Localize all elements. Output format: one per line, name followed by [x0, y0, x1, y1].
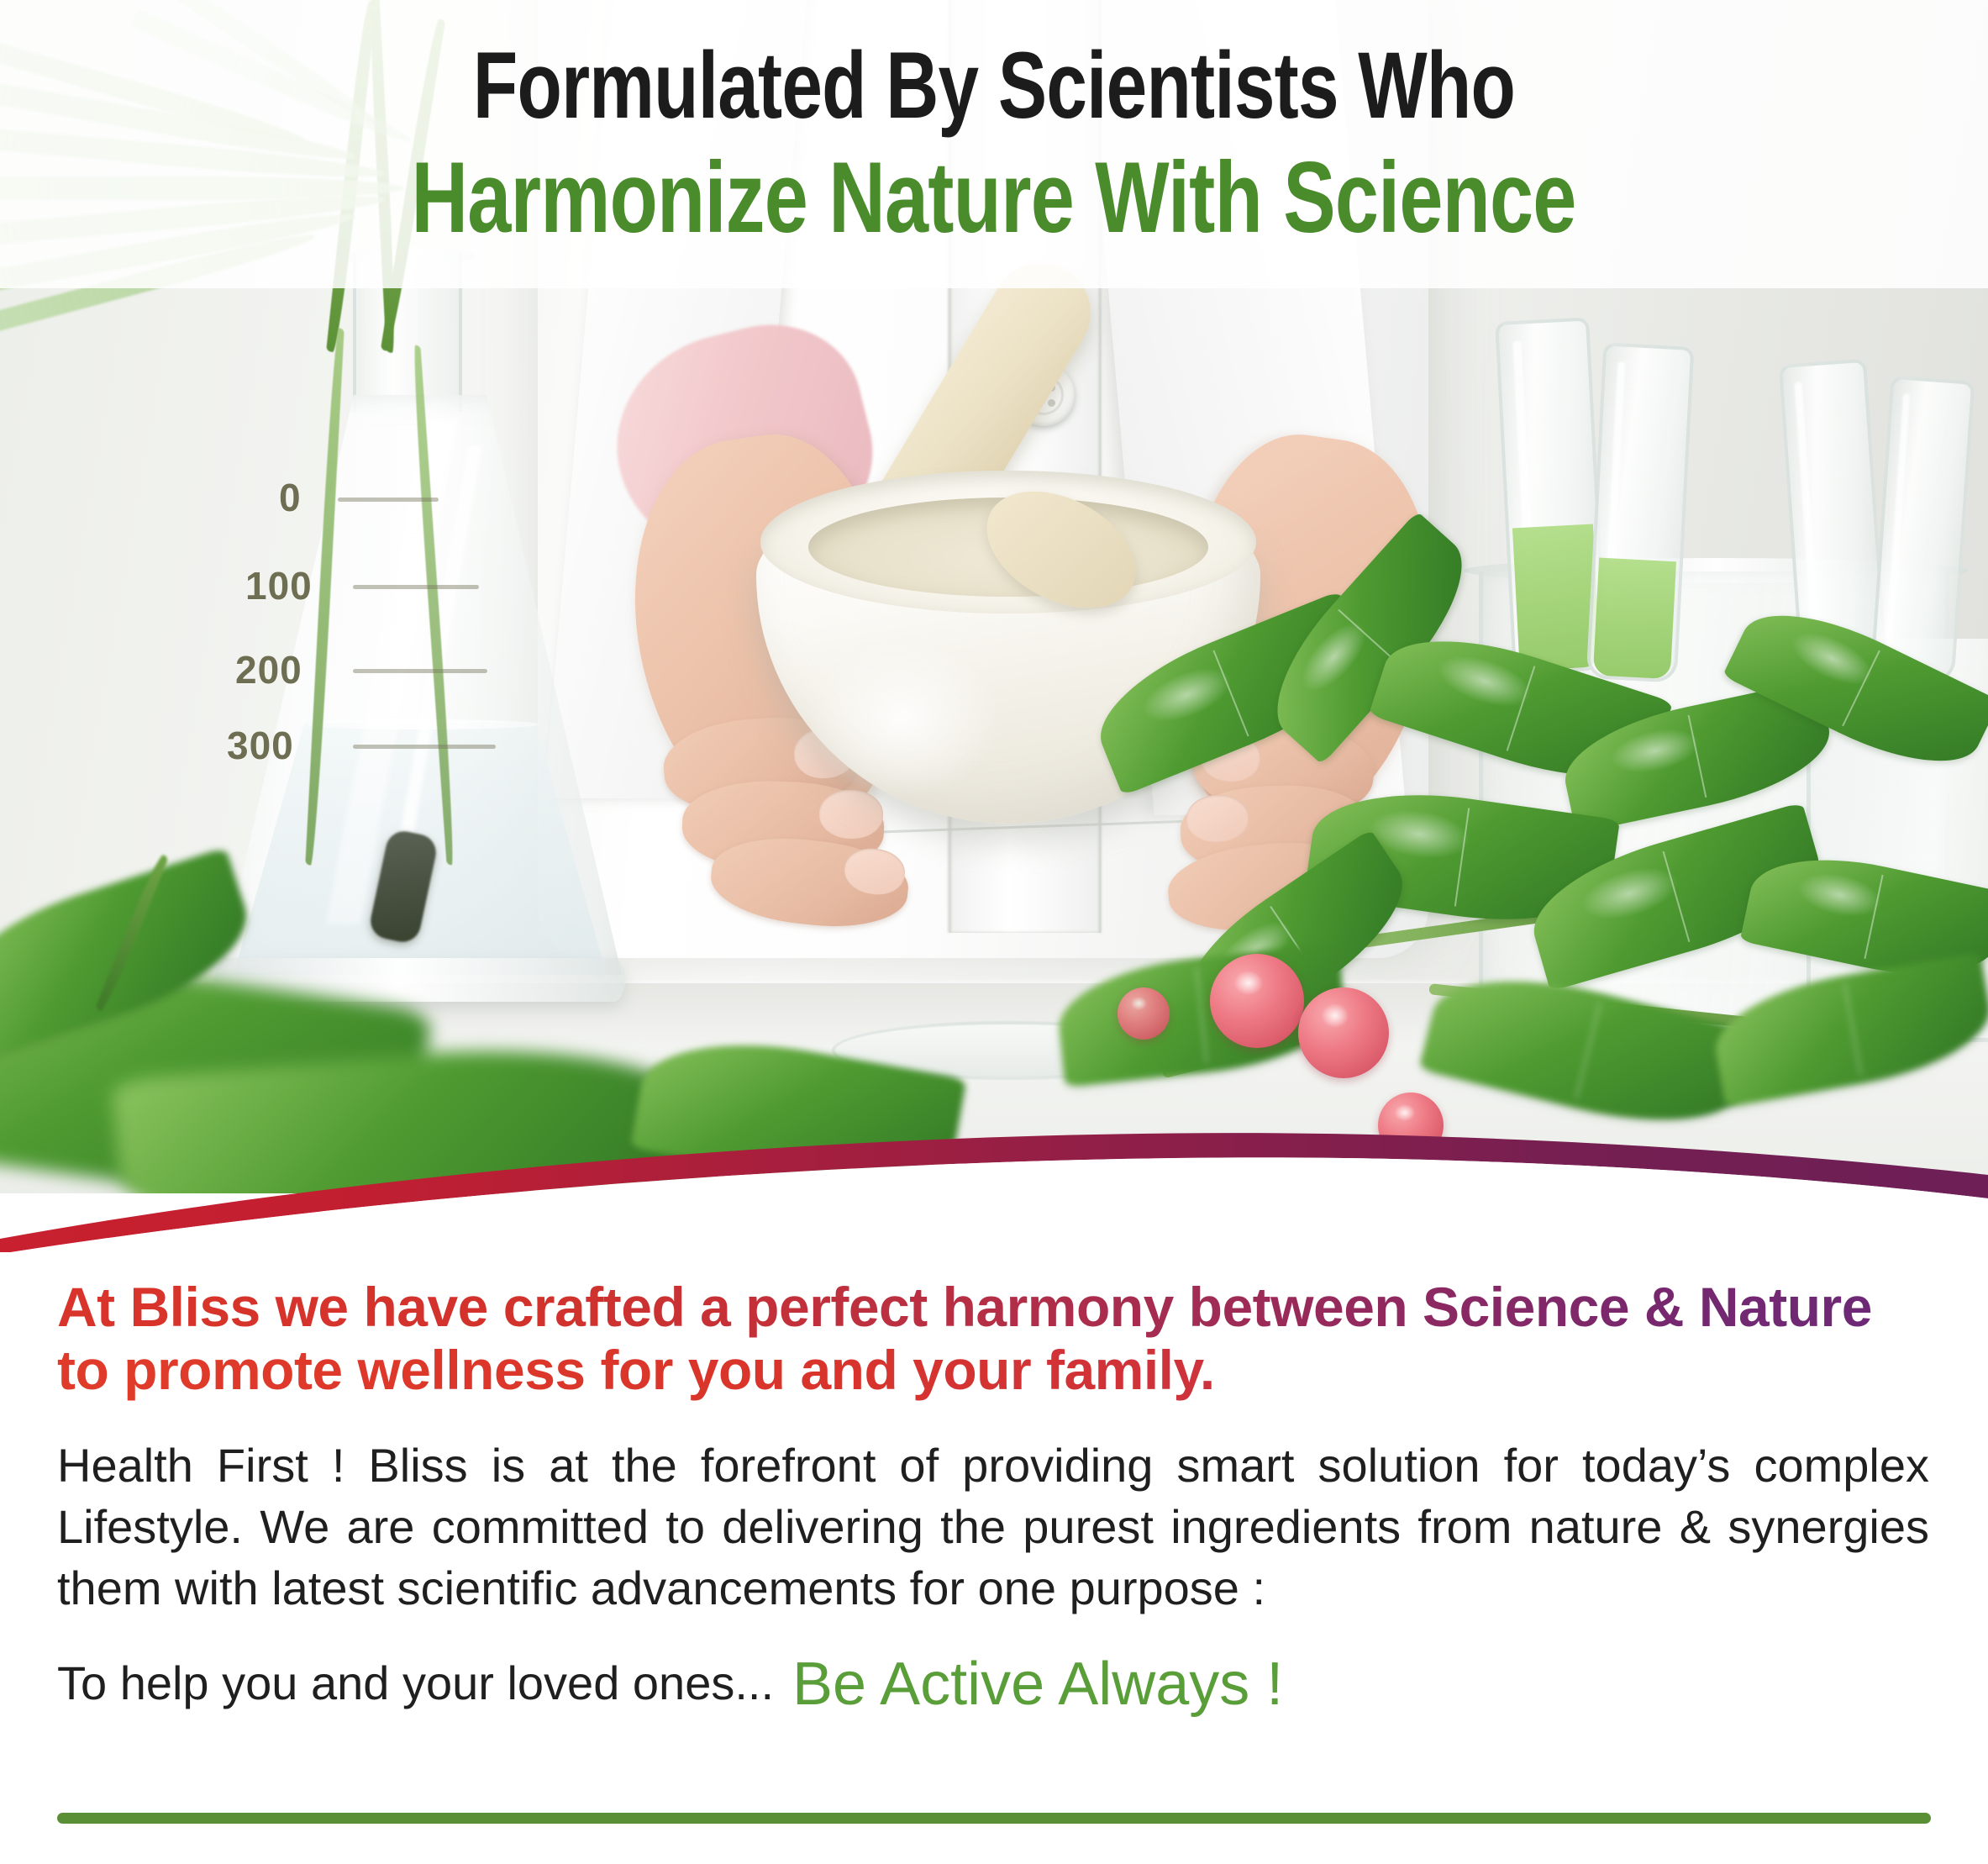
flask-graduation-0: 0 — [279, 475, 302, 520]
lead-statement: At Bliss we have crafted a perfect harmo… — [57, 1276, 1931, 1402]
flask-graduation-300: 300 — [227, 723, 294, 768]
lead-line-1: At Bliss we have crafted a perfect harmo… — [57, 1276, 1931, 1339]
cta-text: Be Active Always ! — [792, 1651, 1283, 1718]
promotional-page: 0 100 200 300 — [0, 0, 1988, 1864]
test-tube — [1586, 342, 1695, 682]
page-title: Formulated By Scientists Who Harmonize N… — [0, 0, 1988, 288]
content-section: At Bliss we have crafted a perfect harmo… — [0, 1252, 1988, 1864]
fingernail — [818, 789, 884, 840]
closing-line: To help you and your loved ones...Be Act… — [57, 1648, 1931, 1720]
curved-divider — [0, 1034, 1988, 1252]
headline-line-1: Formulated By Scientists Who — [473, 39, 1515, 133]
berry-bud — [1118, 987, 1170, 1040]
closing-prefix: To help you and your loved ones... — [57, 1656, 774, 1709]
mortar-highlight — [807, 639, 1000, 798]
erlenmeyer-flask: 0 100 200 300 — [218, 252, 622, 1084]
headline-line-2: Harmonize Nature With Science — [412, 145, 1576, 250]
bottom-divider-rule — [57, 1813, 1931, 1824]
flask-graduation-100: 100 — [245, 563, 313, 608]
body-paragraph: Health First ! Bliss is at the forefront… — [57, 1435, 1929, 1619]
lead-line-2: to promote wellness for you and your fam… — [57, 1339, 1931, 1402]
flask-graduation-200: 200 — [235, 647, 302, 692]
